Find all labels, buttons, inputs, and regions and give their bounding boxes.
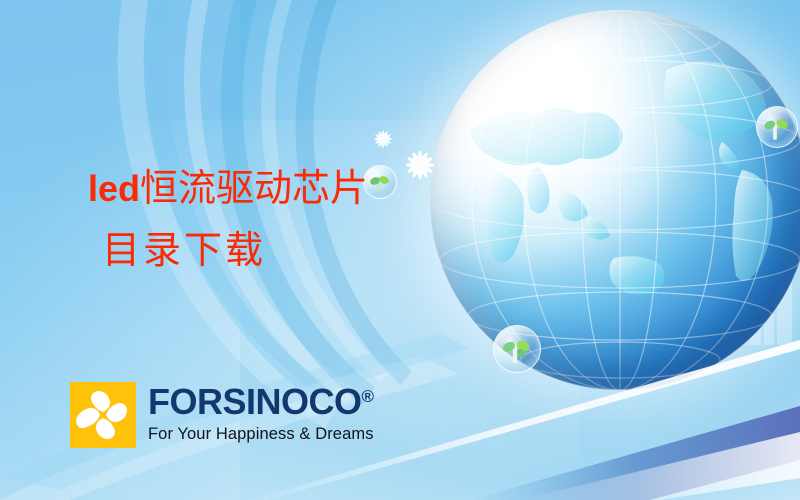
headline-cjk-text: 恒流驱动芯片 xyxy=(140,168,368,210)
eco-bubble-left xyxy=(363,165,397,199)
globe-continents-icon xyxy=(430,10,800,390)
eco-bubble-right xyxy=(756,106,798,148)
city-skyline-icon xyxy=(570,170,800,345)
headline-latin-text: led xyxy=(88,168,140,209)
headline: led恒流驱动芯片 目录下载 xyxy=(88,166,368,275)
headline-line-2: 目录下载 xyxy=(102,228,368,274)
brand-logo: FORSINOCO® For Your Happiness & Dreams xyxy=(70,382,374,448)
sprout-icon xyxy=(363,165,397,199)
headline-line-1: led恒流驱动芯片 xyxy=(88,166,368,212)
four-petal-pinwheel-icon xyxy=(70,382,136,448)
logo-wordmark: FORSINOCO® xyxy=(148,384,374,420)
logo-text-block: FORSINOCO® For Your Happiness & Dreams xyxy=(148,382,374,444)
sprout-icon xyxy=(756,106,798,148)
registered-trademark-icon: ® xyxy=(362,387,374,406)
logo-wordmark-text: FORSINOCO xyxy=(148,381,362,422)
sprout-icon xyxy=(493,325,541,373)
eco-bubble-lower xyxy=(493,325,541,373)
daisy-large-mid-icon xyxy=(403,148,437,187)
banner-canvas: led恒流驱动芯片 目录下载 FORSINOCO® For Your Happi… xyxy=(0,0,800,500)
swirl-arc-7 xyxy=(315,0,800,444)
globe-graphic xyxy=(430,10,800,390)
daisy-small-upper-icon xyxy=(372,128,394,155)
logo-tagline: For Your Happiness & Dreams xyxy=(148,425,374,444)
